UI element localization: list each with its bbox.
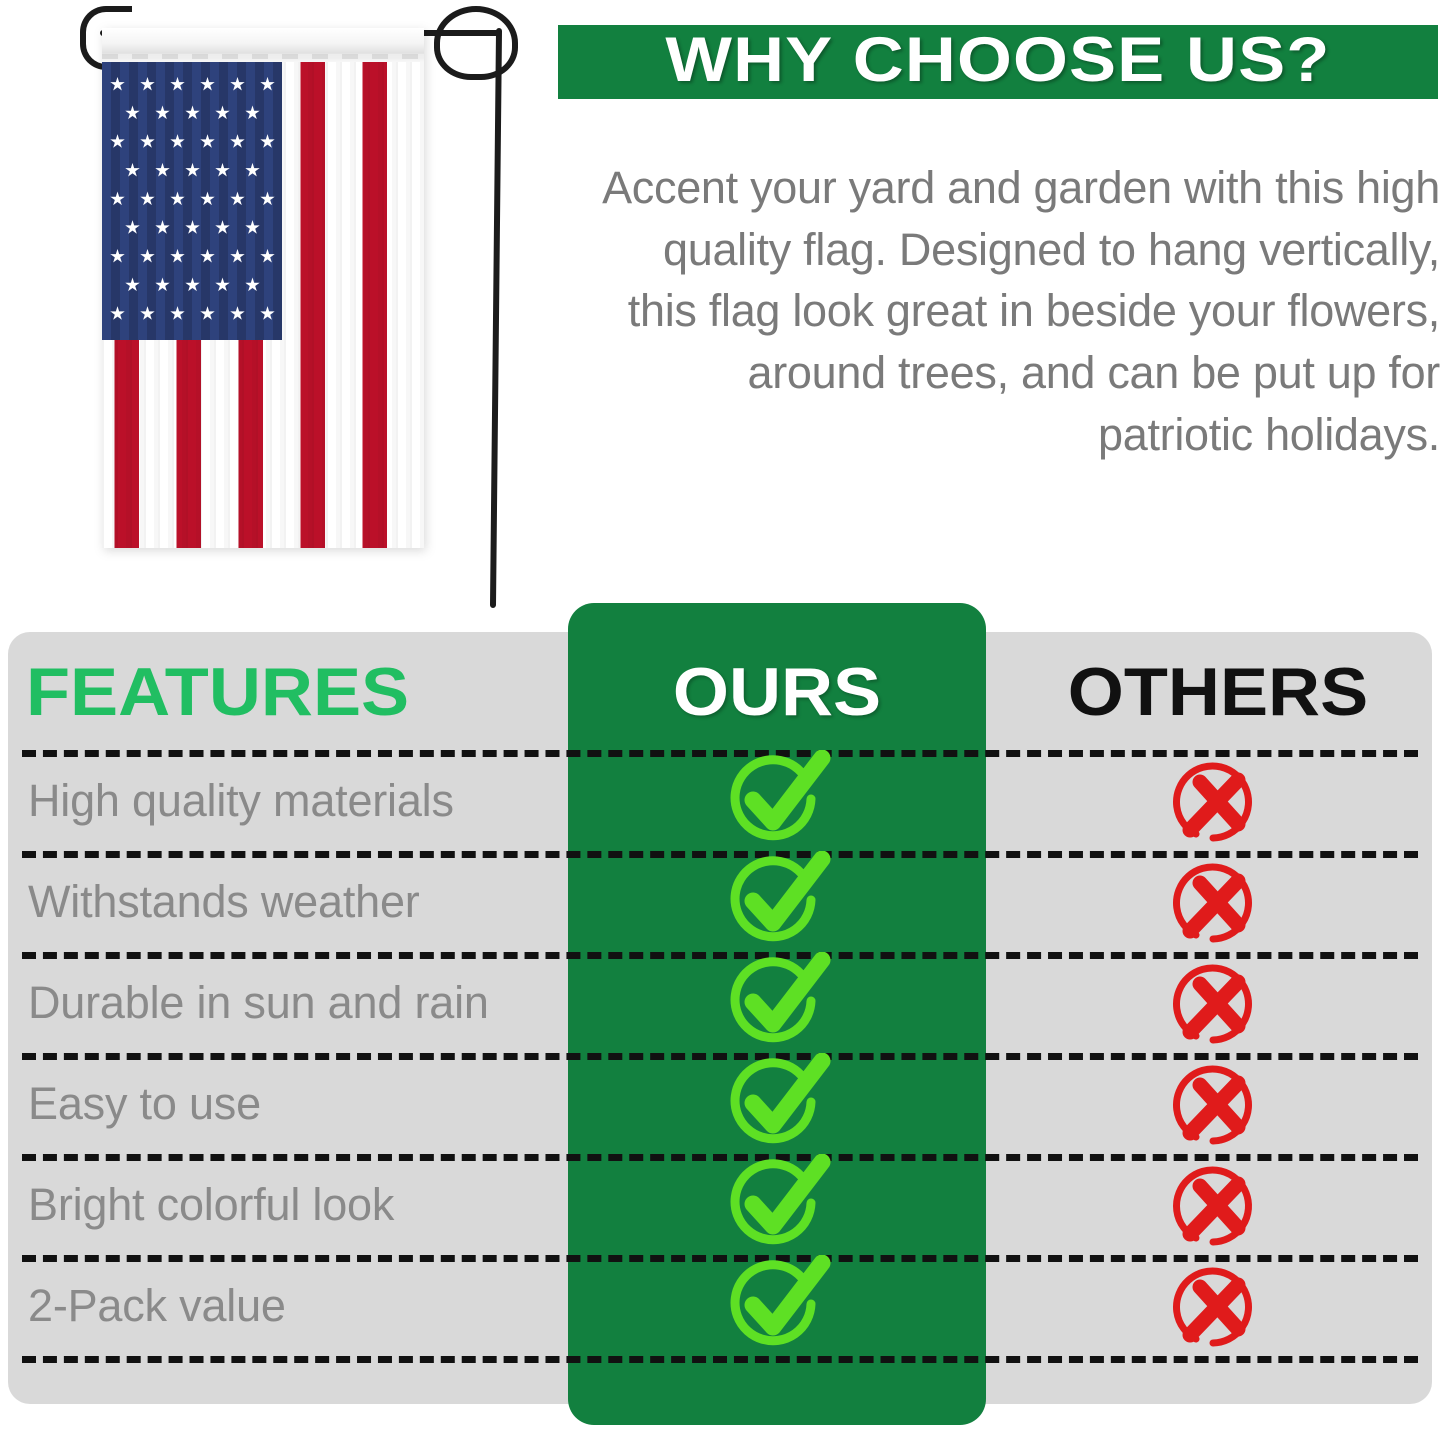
table-row: Bright colorful look	[8, 1154, 1432, 1254]
flag-canton	[102, 58, 282, 340]
table-row: Durable in sun and rain	[8, 952, 1432, 1052]
feature-label: Durable in sun and rain	[28, 980, 548, 1025]
ours-cell-check-icon	[568, 952, 986, 1052]
ours-cell-check-icon	[568, 851, 986, 951]
table-row: Withstands weather	[8, 851, 1432, 951]
table-row: High quality materials	[8, 750, 1432, 850]
column-header-features: FEATURES	[26, 650, 409, 734]
product-description: Accent your yard and garden with this hi…	[585, 157, 1440, 465]
others-cell-cross-icon	[1018, 750, 1418, 850]
feature-label: Withstands weather	[28, 879, 548, 924]
comparison-table-rows: High quality materialsWithstands weather…	[8, 750, 1432, 1404]
headline-banner: WHY CHOOSE US?	[558, 25, 1438, 99]
table-row: 2-Pack value	[8, 1255, 1432, 1355]
others-cell-cross-icon	[1018, 1154, 1418, 1254]
others-cell-cross-icon	[1018, 851, 1418, 951]
ours-cell-check-icon	[568, 750, 986, 850]
others-cell-cross-icon	[1018, 1053, 1418, 1153]
comparison-table-header: FEATURES OURS OTHERS	[8, 632, 1432, 750]
feature-label: 2-Pack value	[28, 1283, 548, 1328]
product-image-garden-flag	[60, 0, 500, 620]
hero-section: WHY CHOOSE US? Accent your yard and gard…	[0, 0, 1445, 600]
ours-cell-check-icon	[568, 1053, 986, 1153]
flag-sleeve	[102, 28, 424, 62]
flag-pole-hook-icon	[434, 6, 518, 80]
feature-label: Easy to use	[28, 1081, 548, 1126]
headline-text: WHY CHOOSE US?	[665, 29, 1330, 92]
flag-stars	[102, 58, 282, 340]
ours-cell-check-icon	[568, 1255, 986, 1355]
others-cell-cross-icon	[1018, 1255, 1418, 1355]
table-row: Easy to use	[8, 1053, 1432, 1153]
column-header-others: OTHERS	[1006, 650, 1430, 734]
feature-label: High quality materials	[28, 778, 548, 823]
flag-pole-rod	[490, 28, 502, 608]
flag-fabric	[102, 28, 424, 548]
row-divider	[22, 1356, 1418, 1363]
others-cell-cross-icon	[1018, 952, 1418, 1052]
feature-label: Bright colorful look	[28, 1182, 548, 1227]
column-header-ours: OURS	[555, 650, 998, 734]
ours-cell-check-icon	[568, 1154, 986, 1254]
